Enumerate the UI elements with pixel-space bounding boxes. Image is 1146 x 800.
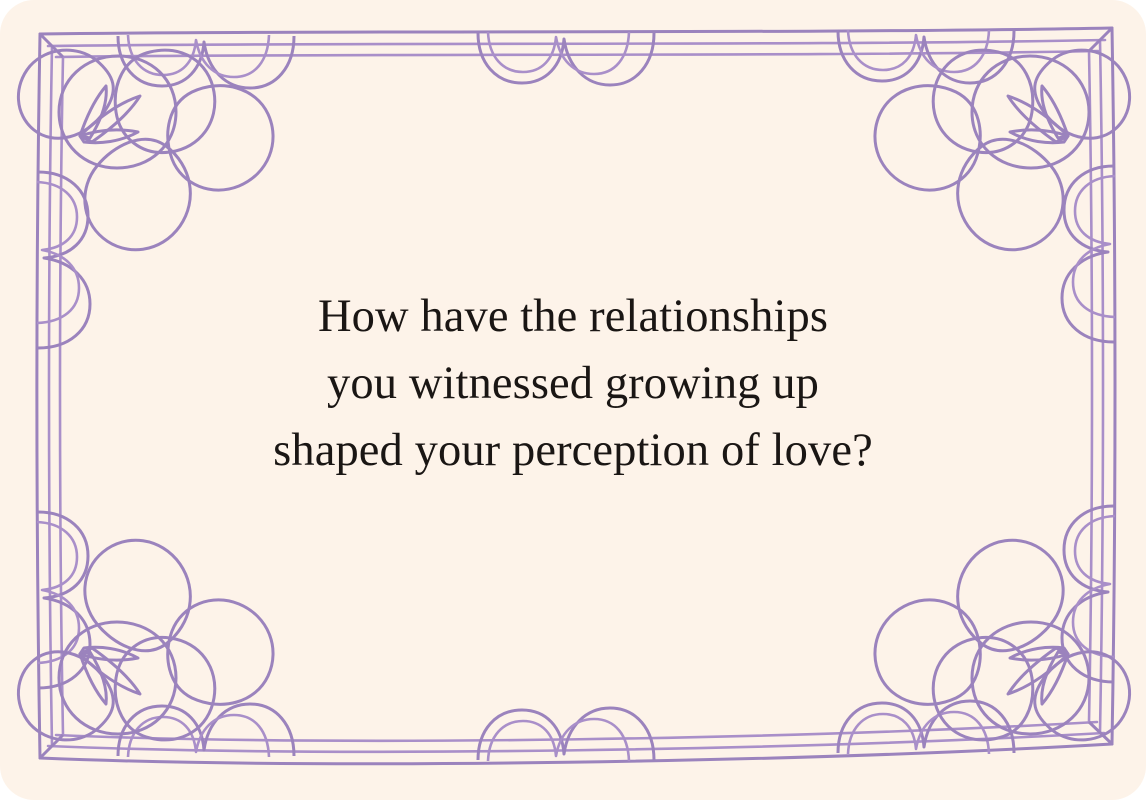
reflection-card: How have the relationships you witnessed… (0, 0, 1146, 800)
prompt-line-2: you witnessed growing up (0, 351, 1146, 418)
prompt-line-1: How have the relationships (0, 284, 1146, 351)
prompt-line-3: shaped your perception of love? (0, 418, 1146, 485)
prompt-text: How have the relationships you witnessed… (0, 284, 1146, 485)
